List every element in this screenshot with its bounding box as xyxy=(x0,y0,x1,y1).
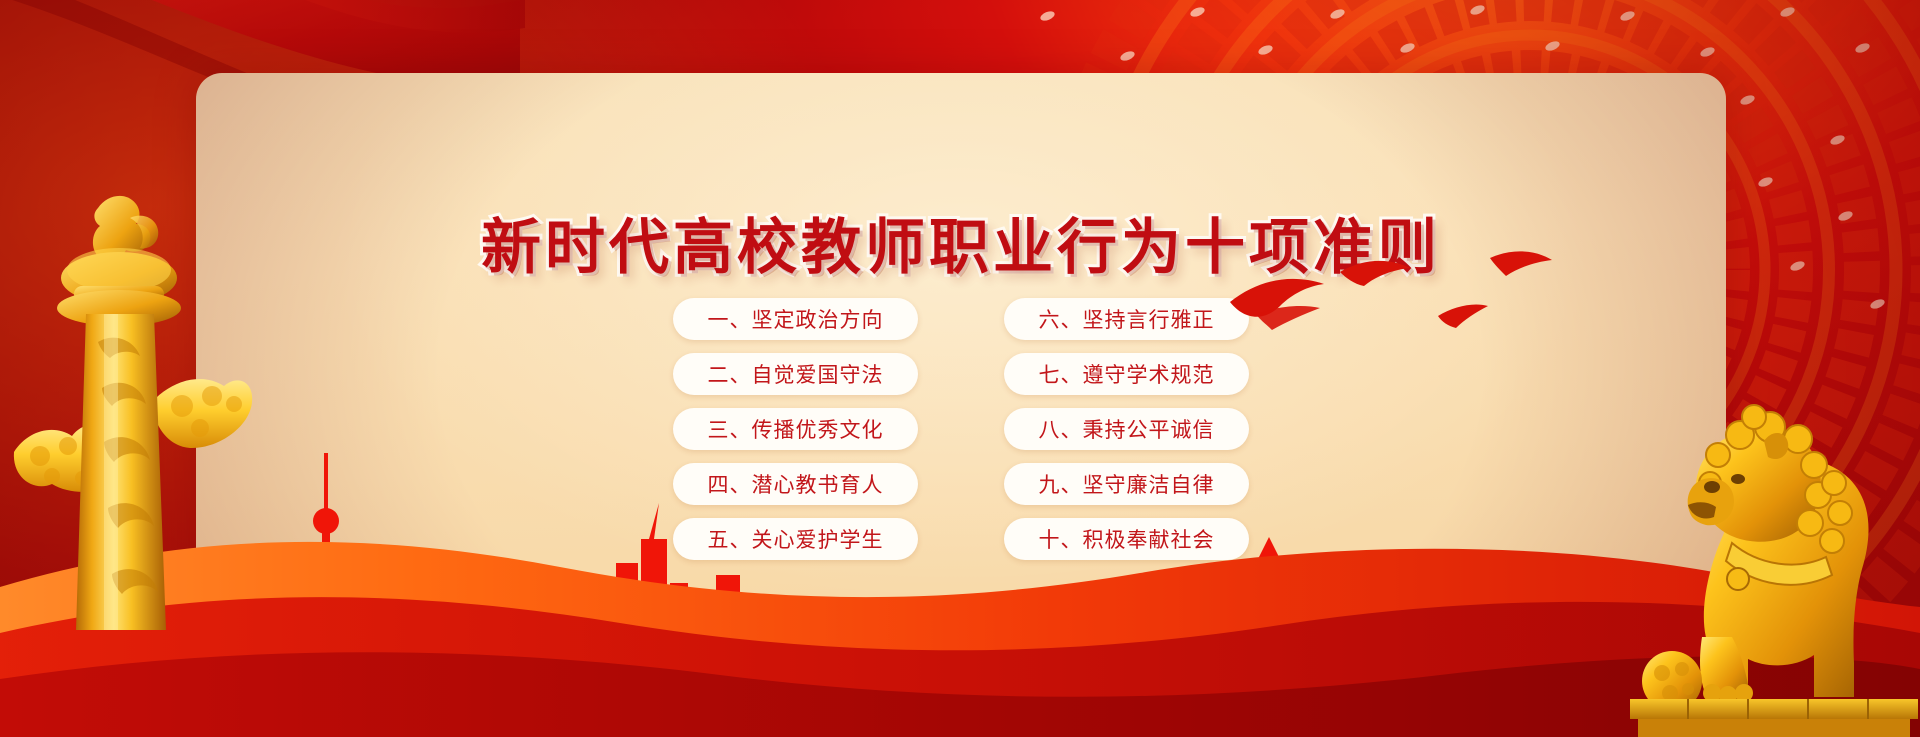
principle-item-1[interactable]: 一、坚定政治方向 xyxy=(673,298,918,340)
golden-guardian-lion xyxy=(1628,337,1918,737)
golden-huabiao-column xyxy=(6,190,256,630)
principle-item-2[interactable]: 二、自觉爱国守法 xyxy=(673,353,918,395)
flying-doves-decoration xyxy=(1220,250,1560,360)
principle-item-7[interactable]: 七、遵守学术规范 xyxy=(1004,353,1249,395)
banner-root: 新时代高校教师职业行为十项准则 一、坚定政治方向 二、自觉爱国守法 三、传播优秀… xyxy=(0,0,1920,737)
principle-item-6[interactable]: 六、坚持言行雅正 xyxy=(1004,298,1249,340)
